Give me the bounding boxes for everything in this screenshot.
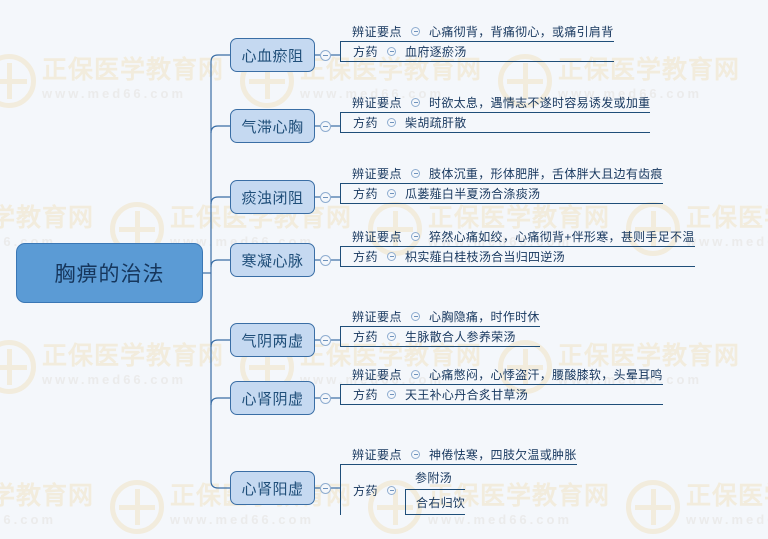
collapse-minus-icon[interactable] <box>411 27 420 36</box>
formula-label: 方药 <box>353 482 378 499</box>
root-node[interactable]: 胸痹的治法 <box>16 243 203 303</box>
collapse-minus-icon[interactable] <box>411 232 420 241</box>
formula-value: 天王补心丹合炙甘草汤 <box>405 386 528 403</box>
collapse-minus-icon[interactable] <box>320 50 331 61</box>
formula-label: 方药 <box>353 386 378 403</box>
formula-label: 方药 <box>353 43 378 60</box>
collapse-minus-icon[interactable] <box>387 47 396 56</box>
formula-sub-item[interactable]: 参附汤 <box>405 465 465 490</box>
formula-value: 血府逐瘀汤 <box>405 43 467 60</box>
detail-group-hanningxinmai: 辨证要点 猝然心痛如绞，心痛彻背+伴形寒，甚则手足不温 方药 枳实薤白桂枝汤合当… <box>340 227 695 267</box>
formula-row[interactable]: 方药 柴胡疏肝散 <box>340 113 650 133</box>
key-points-row[interactable]: 辨证要点 时欲太息，遇情志不遂时容易诱发或加重 <box>340 93 650 113</box>
formula-sub-item[interactable]: 合右归饮 <box>405 490 465 515</box>
key-points-row[interactable]: 辨证要点 心痛彻背，背痛彻心，或痛引肩背 <box>340 22 614 42</box>
key-points-label: 辨证要点 <box>352 366 402 383</box>
collapse-minus-icon[interactable] <box>411 370 420 379</box>
key-points-value: 肢体沉重，形体肥胖，舌体胖大且边有齿痕 <box>429 165 663 182</box>
key-points-label: 辨证要点 <box>352 228 402 245</box>
key-points-value: 心胸隐痛，时作时休 <box>429 308 540 325</box>
collapse-minus-icon[interactable] <box>320 255 331 266</box>
formula-row[interactable]: 方药 血府逐瘀汤 <box>340 42 614 62</box>
formula-row[interactable]: 方药 天王补心丹合炙甘草汤 <box>340 385 663 405</box>
formula-row[interactable]: 方药 枳实薤白桂枝汤合当归四逆汤 <box>340 247 695 267</box>
branch-node-hanningxinmai[interactable]: 寒凝心脉 <box>230 243 315 277</box>
key-points-value: 猝然心痛如绞，心痛彻背+伴形寒，甚则手足不温 <box>429 228 695 245</box>
detail-group-xinxueyuzu: 辨证要点 心痛彻背，背痛彻心，或痛引肩背 方药 血府逐瘀汤 <box>340 22 614 62</box>
collapse-minus-icon[interactable] <box>320 393 331 404</box>
collapse-minus-icon[interactable] <box>387 390 396 399</box>
formula-label: 方药 <box>353 114 378 131</box>
detail-group-qizhixinxiong: 辨证要点 时欲太息，遇情志不遂时容易诱发或加重 方药 柴胡疏肝散 <box>340 93 650 133</box>
key-points-row[interactable]: 辨证要点 肢体沉重，形体肥胖，舌体胖大且边有齿痕 <box>340 164 663 184</box>
key-points-row[interactable]: 辨证要点 神倦怯寒，四肢欠温或肿胀 <box>340 445 577 465</box>
key-points-label: 辨证要点 <box>352 23 402 40</box>
key-points-value: 心痛彻背，背痛彻心，或痛引肩背 <box>429 23 614 40</box>
branch-node-qizhixinxiong[interactable]: 气滞心胸 <box>230 109 315 143</box>
formula-label: 方药 <box>353 328 378 345</box>
branch-node-xinshenyinxu[interactable]: 心肾阴虚 <box>230 381 315 415</box>
key-points-row[interactable]: 辨证要点 心痛憋闷，心悸盗汗，腰酸膝软，头晕耳鸣 <box>340 365 663 385</box>
formula-value: 枳实薤白桂枝汤合当归四逆汤 <box>405 248 565 265</box>
collapse-minus-icon[interactable] <box>411 312 420 321</box>
collapse-minus-icon[interactable] <box>411 169 420 178</box>
branch-node-tanzhuobizu[interactable]: 痰浊闭阻 <box>230 180 315 214</box>
formula-value: 柴胡疏肝散 <box>405 114 467 131</box>
detail-group-qiyinliangxu: 辨证要点 心胸隐痛，时作时休 方药 生脉散合人参养荣汤 <box>340 307 540 347</box>
detail-group-xinshenyangxu: 辨证要点 神倦怯寒，四肢欠温或肿胀 方药 参附汤 合右归饮 <box>340 445 577 515</box>
nodes-layer: 胸痹的治法 心血瘀阻 气滞心胸 痰浊闭阻 寒凝心脉 气阴两虚 心肾阴虚 心肾阳虚… <box>0 0 768 539</box>
collapse-minus-icon[interactable] <box>387 118 396 127</box>
key-points-value: 时欲太息，遇情志不遂时容易诱发或加重 <box>429 94 650 111</box>
key-points-row[interactable]: 辨证要点 猝然心痛如绞，心痛彻背+伴形寒，甚则手足不温 <box>340 227 695 247</box>
key-points-value: 神倦怯寒，四肢欠温或肿胀 <box>429 446 577 463</box>
formula-value: 生脉散合人参养荣汤 <box>405 328 516 345</box>
collapse-minus-icon[interactable] <box>320 121 331 132</box>
key-points-label: 辨证要点 <box>352 446 402 463</box>
formula-value: 瓜蒌薤白半夏汤合涤痰汤 <box>405 185 540 202</box>
formula-row[interactable]: 方药 参附汤 合右归饮 <box>340 465 577 515</box>
key-points-label: 辨证要点 <box>352 94 402 111</box>
collapse-minus-icon[interactable] <box>320 192 331 203</box>
collapse-minus-icon[interactable] <box>387 252 396 261</box>
branch-node-qiyinliangxu[interactable]: 气阴两虚 <box>230 323 315 357</box>
collapse-minus-icon[interactable] <box>411 98 420 107</box>
branch-node-xinxueyuzu[interactable]: 心血瘀阻 <box>230 38 315 72</box>
formula-row[interactable]: 方药 生脉散合人参养荣汤 <box>340 327 540 347</box>
key-points-value: 心痛憋闷，心悸盗汗，腰酸膝软，头晕耳鸣 <box>429 366 663 383</box>
formula-label: 方药 <box>353 185 378 202</box>
key-points-label: 辨证要点 <box>352 308 402 325</box>
collapse-minus-icon[interactable] <box>411 450 420 459</box>
collapse-minus-icon[interactable] <box>387 332 396 341</box>
key-points-label: 辨证要点 <box>352 165 402 182</box>
collapse-minus-icon[interactable] <box>387 189 396 198</box>
branch-node-xinshenyangxu[interactable]: 心肾阳虚 <box>230 471 315 505</box>
mindmap-canvas: 正保医学教育网 www.med66.com 正保医学教育网 www.med66.… <box>0 0 768 539</box>
collapse-minus-icon[interactable] <box>387 486 396 495</box>
collapse-minus-icon[interactable] <box>320 483 331 494</box>
collapse-minus-icon[interactable] <box>320 335 331 346</box>
formula-label: 方药 <box>353 248 378 265</box>
detail-group-tanzhuobizu: 辨证要点 肢体沉重，形体肥胖，舌体胖大且边有齿痕 方药 瓜蒌薤白半夏汤合涤痰汤 <box>340 164 663 204</box>
formula-row[interactable]: 方药 瓜蒌薤白半夏汤合涤痰汤 <box>340 184 663 204</box>
detail-group-xinshenyinxu: 辨证要点 心痛憋闷，心悸盗汗，腰酸膝软，头晕耳鸣 方药 天王补心丹合炙甘草汤 <box>340 365 663 405</box>
key-points-row[interactable]: 辨证要点 心胸隐痛，时作时休 <box>340 307 540 327</box>
